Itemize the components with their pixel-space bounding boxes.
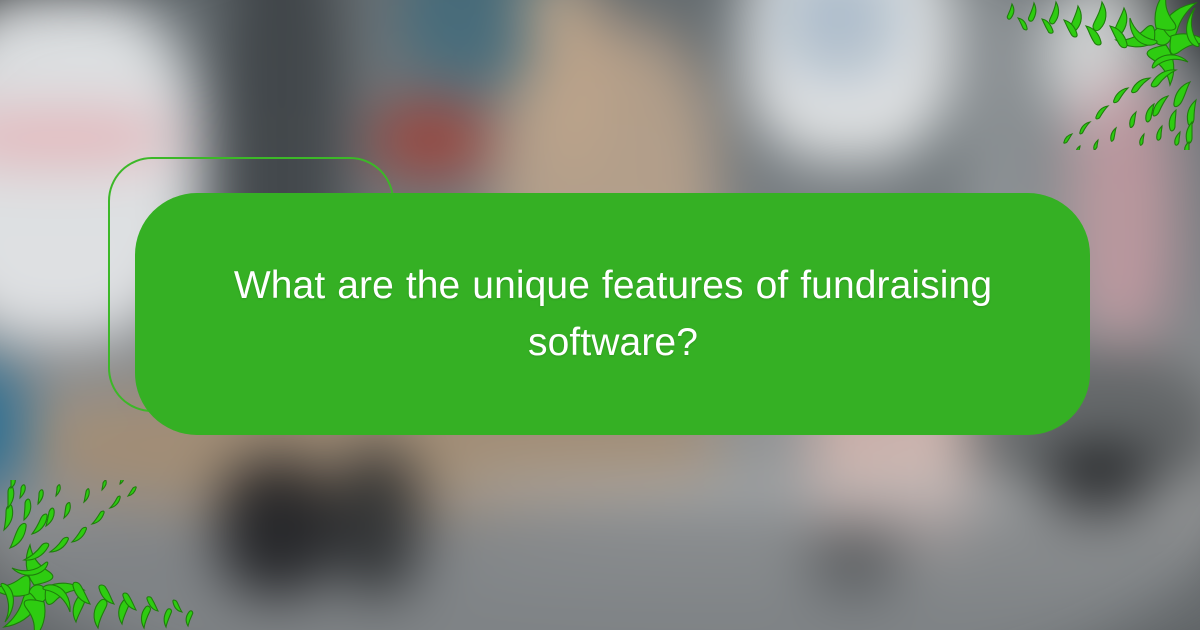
question-text: What are the unique features of fundrais… xyxy=(135,257,1090,371)
question-card: What are the unique features of fundrais… xyxy=(135,193,1090,435)
question-card-graphic: What are the unique features of fundrais… xyxy=(0,0,1200,630)
